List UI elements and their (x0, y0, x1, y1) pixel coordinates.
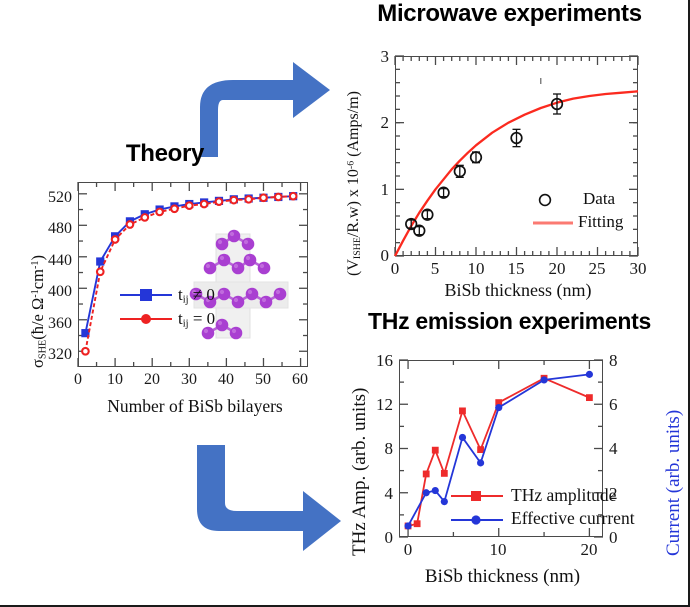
microwave-legend-item-fitting: Fitting (578, 212, 623, 232)
microwave-plot-canvas (333, 0, 690, 305)
legend-ij-subscript: ij (183, 294, 189, 305)
thz-plot-canvas (333, 308, 690, 607)
arrow-theory-to-thz (185, 443, 345, 543)
panel-thz: THz emission experiments THz Amp. (arb. … (333, 308, 690, 607)
thz-legend-item-amplitude: THz amplitude (511, 485, 616, 506)
theory-legend-item-tij-nonzero: tij ≠ 0 (178, 285, 215, 305)
panel-theory: Theory σSHE(ħ/e Ω-1cm-1) Number of BiSb … (0, 140, 330, 410)
theory-legend-markers (120, 288, 178, 330)
panel-microwave: Microwave experiments (VISHE/R.w) x 10-6… (333, 0, 690, 305)
legend-tail: = 0 (193, 309, 215, 328)
microwave-legend-markers (533, 192, 581, 234)
legend-tail: ≠ 0 (193, 285, 215, 304)
legend-ij-subscript: ij (183, 318, 189, 329)
thz-legend-markers (451, 488, 511, 532)
microwave-legend-item-data: Data (583, 189, 615, 209)
figure-canvas: Theory σSHE(ħ/e Ω-1cm-1) Number of BiSb … (0, 0, 690, 607)
theory-legend-item-tij-zero: tij = 0 (178, 309, 215, 329)
thz-legend-item-current: Effective currrent (511, 508, 635, 529)
